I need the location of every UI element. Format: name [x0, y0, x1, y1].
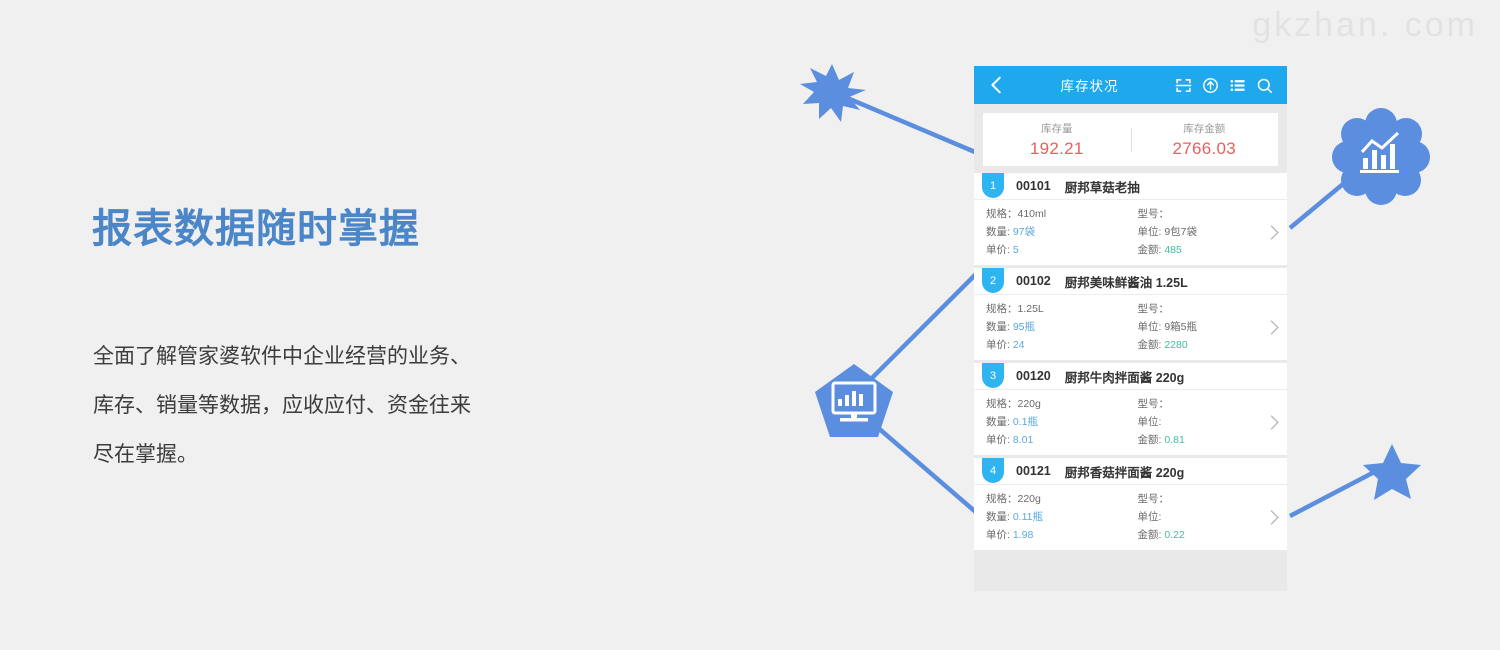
flower-badge	[1332, 108, 1430, 205]
field-qty: 数量: 0.1瓶	[986, 413, 1118, 431]
app-navbar: 库存状况	[974, 66, 1287, 104]
field-amount: 金额: 0.81	[1138, 431, 1262, 449]
navbar-actions	[1175, 77, 1275, 94]
field-qty: 数量: 97袋	[986, 223, 1118, 241]
field-price: 单价: 24	[986, 336, 1118, 354]
list-item-body: 规格：410ml 数量: 97袋 单价: 5 型号： 单位: 9包7袋 金额: …	[974, 200, 1287, 265]
bar-chart-trend-icon	[1360, 133, 1399, 173]
field-model: 型号：	[1138, 300, 1262, 318]
promo-line-2: 库存、销量等数据，应收应付、资金往来	[93, 381, 603, 430]
list-item-header: 3 00120 厨邦牛肉拌面酱 220g	[974, 363, 1287, 390]
monitor-chart-icon	[833, 383, 875, 413]
field-label: 规格：	[986, 398, 1018, 410]
field-value: 220g	[1018, 493, 1041, 505]
promo-line-3: 尽在掌握。	[93, 430, 603, 479]
field-label: 金额:	[1138, 529, 1162, 541]
product-name: 厨邦香菇拌面酱 220g	[1065, 462, 1184, 481]
connector-line-middle-lower	[862, 414, 978, 514]
pentagon-shape	[815, 364, 893, 437]
field-label: 型号：	[1138, 303, 1170, 315]
field-column-right: 型号： 单位: 9包7袋 金额: 485	[1118, 205, 1262, 259]
list-item-header: 4 00121 厨邦香菇拌面酱 220g	[974, 458, 1287, 485]
field-label: 单位:	[1138, 226, 1162, 238]
field-column-right: 型号： 单位: 9箱5瓶 金额: 2280	[1118, 300, 1262, 354]
chevron-right-icon	[1269, 509, 1280, 526]
chevron-right-icon	[1269, 414, 1280, 431]
summary-cell-quantity: 库存量 192.21	[983, 121, 1131, 159]
field-label: 金额:	[1138, 339, 1162, 351]
row-detail-button[interactable]	[1261, 319, 1287, 336]
inventory-summary-card: 库存量 192.21 库存金额 2766.03	[983, 113, 1278, 166]
site-watermark: gkzhan. com	[1252, 6, 1478, 45]
pentagon-badge	[815, 364, 893, 437]
scan-icon[interactable]	[1175, 77, 1192, 94]
starburst-icon	[800, 64, 866, 122]
list-item-header: 1 00101 厨邦草菇老抽	[974, 173, 1287, 200]
scalloped-shape	[1332, 108, 1430, 205]
field-label: 型号：	[1138, 398, 1170, 410]
list-item-body: 规格：220g 数量: 0.1瓶 单价: 8.01 型号： 单位: 金额: 0.…	[974, 390, 1287, 455]
field-label: 单位:	[1138, 511, 1162, 523]
field-value: 1.98	[1013, 529, 1033, 541]
list-item[interactable]: 1 00101 厨邦草菇老抽 规格：410ml 数量: 97袋 单价: 5 型号…	[974, 173, 1287, 265]
search-icon[interactable]	[1256, 77, 1273, 94]
field-value: 0.1瓶	[1013, 416, 1038, 428]
field-value: 2280	[1164, 339, 1187, 351]
inventory-list: 1 00101 厨邦草菇老抽 规格：410ml 数量: 97袋 单价: 5 型号…	[974, 173, 1287, 550]
row-detail-button[interactable]	[1261, 224, 1287, 241]
field-label: 单价:	[986, 434, 1010, 446]
field-spec: 规格：410ml	[986, 205, 1118, 223]
list-empty-space	[974, 553, 1287, 591]
rank-badge: 1	[982, 173, 1004, 198]
rank-badge: 2	[982, 268, 1004, 293]
list-item-body: 规格：220g 数量: 0.11瓶 单价: 1.98 型号： 单位: 金额: 0…	[974, 485, 1287, 550]
field-column-left: 规格：1.25L 数量: 95瓶 单价: 24	[974, 300, 1118, 354]
row-detail-button[interactable]	[1261, 414, 1287, 431]
list-item-header: 2 00102 厨邦美味鲜酱油 1.25L	[974, 268, 1287, 295]
promo-banner: gkzhan. com 报表数据随时掌握 全面了解管家婆软件中企业经营的业务、 …	[0, 0, 1500, 650]
field-value: 97袋	[1013, 226, 1035, 238]
field-value: 410ml	[1018, 208, 1047, 220]
field-label: 单价:	[986, 244, 1010, 256]
arrow-up-circle-icon[interactable]	[1202, 77, 1219, 94]
list-item[interactable]: 2 00102 厨邦美味鲜酱油 1.25L 规格：1.25L 数量: 95瓶 单…	[974, 268, 1287, 360]
field-unit: 单位:	[1138, 508, 1262, 526]
field-label: 型号：	[1138, 208, 1170, 220]
connector-line-right-lower	[1290, 468, 1382, 516]
field-value: 0.81	[1164, 434, 1184, 446]
field-label: 型号：	[1138, 493, 1170, 505]
field-column-right: 型号： 单位: 金额: 0.81	[1118, 395, 1262, 449]
field-spec: 规格：220g	[986, 490, 1118, 508]
field-label: 金额:	[1138, 244, 1162, 256]
page-title: 报表数据随时掌握	[92, 196, 420, 254]
chevron-right-icon	[1269, 319, 1280, 336]
list-item[interactable]: 3 00120 厨邦牛肉拌面酱 220g 规格：220g 数量: 0.1瓶 单价…	[974, 363, 1287, 455]
rank-badge: 3	[982, 363, 1004, 388]
field-price: 单价: 5	[986, 241, 1118, 259]
field-model: 型号：	[1138, 490, 1262, 508]
field-label: 规格：	[986, 493, 1018, 505]
field-spec: 规格：1.25L	[986, 300, 1118, 318]
summary-value: 2766.03	[1131, 139, 1279, 159]
field-qty: 数量: 0.11瓶	[986, 508, 1118, 526]
field-label: 金额:	[1138, 434, 1162, 446]
field-value: 8.01	[1013, 434, 1033, 446]
product-code: 00120	[1016, 369, 1051, 383]
field-value: 485	[1164, 244, 1182, 256]
field-model: 型号：	[1138, 395, 1262, 413]
connector-line-top	[833, 92, 975, 152]
product-name: 厨邦草菇老抽	[1065, 177, 1140, 196]
field-model: 型号：	[1138, 205, 1262, 223]
chevron-right-icon	[1269, 224, 1280, 241]
field-amount: 金额: 485	[1138, 241, 1262, 259]
field-column-left: 规格：410ml 数量: 97袋 单价: 5	[974, 205, 1118, 259]
field-label: 单位:	[1138, 321, 1162, 333]
field-value: 9包7袋	[1164, 226, 1197, 238]
navbar-title: 库存状况	[1004, 75, 1175, 95]
connector-line-right-upper	[1290, 160, 1372, 228]
field-unit: 单位: 9箱5瓶	[1138, 318, 1262, 336]
field-column-left: 规格：220g 数量: 0.1瓶 单价: 8.01	[974, 395, 1118, 449]
summary-cell-amount: 库存金额 2766.03	[1131, 121, 1279, 159]
rank-badge: 4	[982, 458, 1004, 483]
field-amount: 金额: 0.22	[1138, 526, 1262, 544]
field-label: 数量:	[986, 321, 1010, 333]
field-label: 规格：	[986, 208, 1018, 220]
field-value: 0.11瓶	[1013, 511, 1043, 523]
field-qty: 数量: 95瓶	[986, 318, 1118, 336]
star-icon	[1363, 444, 1421, 500]
promo-line-1: 全面了解管家婆软件中企业经营的业务、	[93, 332, 603, 381]
field-value: 5	[1013, 244, 1019, 256]
field-spec: 规格：220g	[986, 395, 1118, 413]
field-grid: 规格：220g 数量: 0.11瓶 单价: 1.98 型号： 单位: 金额: 0…	[974, 490, 1261, 544]
field-value: 95瓶	[1013, 321, 1035, 333]
field-unit: 单位: 9包7袋	[1138, 223, 1262, 241]
field-label: 数量:	[986, 511, 1010, 523]
product-code: 00101	[1016, 179, 1051, 193]
field-value: 0.22	[1164, 529, 1184, 541]
list-item-body: 规格：1.25L 数量: 95瓶 单价: 24 型号： 单位: 9箱5瓶 金额:…	[974, 295, 1287, 360]
field-unit: 单位:	[1138, 413, 1262, 431]
field-value: 9箱5瓶	[1164, 321, 1197, 333]
row-detail-button[interactable]	[1261, 509, 1287, 526]
promo-paragraph: 全面了解管家婆软件中企业经营的业务、 库存、销量等数据，应收应付、资金往来 尽在…	[93, 332, 603, 479]
list-icon[interactable]	[1229, 77, 1246, 94]
connector-line-middle-upper	[862, 272, 978, 388]
summary-label: 库存金额	[1131, 121, 1279, 136]
summary-value: 192.21	[983, 139, 1131, 159]
field-label: 规格：	[986, 303, 1018, 315]
field-label: 单位:	[1138, 416, 1162, 428]
field-column-right: 型号： 单位: 金额: 0.22	[1118, 490, 1262, 544]
field-price: 单价: 1.98	[986, 526, 1118, 544]
field-grid: 规格：410ml 数量: 97袋 单价: 5 型号： 单位: 9包7袋 金额: …	[974, 205, 1261, 259]
field-column-left: 规格：220g 数量: 0.11瓶 单价: 1.98	[974, 490, 1118, 544]
field-amount: 金额: 2280	[1138, 336, 1262, 354]
field-label: 数量:	[986, 226, 1010, 238]
field-price: 单价: 8.01	[986, 431, 1118, 449]
field-grid: 规格：220g 数量: 0.1瓶 单价: 8.01 型号： 单位: 金额: 0.…	[974, 395, 1261, 449]
product-name: 厨邦牛肉拌面酱 220g	[1065, 367, 1184, 386]
field-label: 单价:	[986, 529, 1010, 541]
product-code: 00102	[1016, 274, 1051, 288]
product-name: 厨邦美味鲜酱油 1.25L	[1065, 272, 1188, 291]
phone-mockup: 库存状况	[974, 66, 1287, 591]
field-value: 220g	[1018, 398, 1041, 410]
product-code: 00121	[1016, 464, 1051, 478]
field-label: 数量:	[986, 416, 1010, 428]
field-label: 单价:	[986, 339, 1010, 351]
summary-label: 库存量	[983, 121, 1131, 136]
field-value: 24	[1013, 339, 1025, 351]
field-grid: 规格：1.25L 数量: 95瓶 单价: 24 型号： 单位: 9箱5瓶 金额:…	[974, 300, 1261, 354]
list-item[interactable]: 4 00121 厨邦香菇拌面酱 220g 规格：220g 数量: 0.11瓶 单…	[974, 458, 1287, 550]
field-value: 1.25L	[1018, 303, 1044, 315]
